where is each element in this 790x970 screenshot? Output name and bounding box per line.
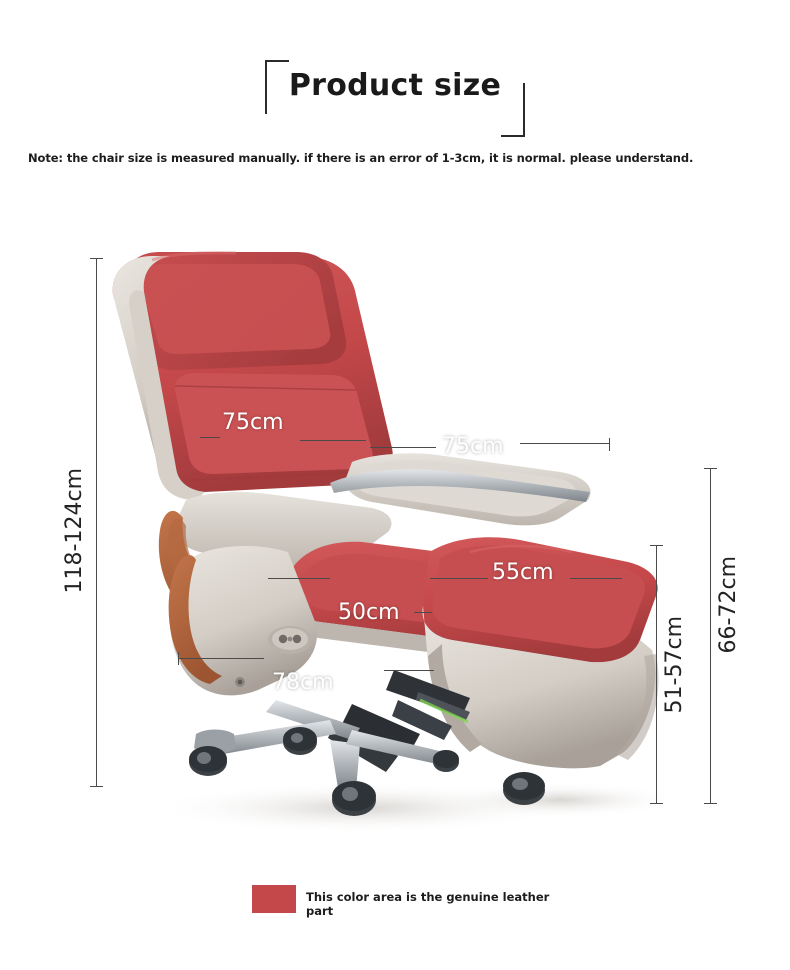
product-size-page: Product size Note: the chair size is mea…: [0, 0, 790, 970]
dimension-cap-top: [90, 258, 103, 259]
dimension-total-depth-range: 66-72cm: [716, 556, 741, 653]
dimension-line-seat-width-2: [414, 612, 432, 613]
legend: This color area is the genuine leather p…: [252, 885, 552, 913]
dimension-line-backrest-width-2: [300, 440, 366, 441]
dimension-line-base-width-2: [384, 670, 434, 671]
dimension-line-footrest: [430, 578, 488, 579]
legend-color-swatch: [252, 885, 296, 913]
dimension-footrest-width: 55cm: [492, 560, 554, 585]
dimension-base-width: 78cm: [272, 670, 334, 695]
dimension-line-seat-depth-top: [370, 447, 436, 448]
page-title: Product size: [255, 55, 535, 117]
legend-label: This color area is the genuine leather p…: [306, 890, 552, 918]
dimension-seat-height-range: 51-57cm: [662, 616, 687, 713]
dimension-cap-depth-right: [609, 438, 610, 451]
dimension-cap-seat-height-bottom: [650, 803, 663, 804]
chair-drawing: [0, 200, 790, 860]
chair-illustration: 118-124cm 75cm 75cm 55cm 50cm 78cm 51-57…: [0, 200, 790, 860]
dimension-overall-height: 118-124cm: [62, 468, 87, 593]
dimension-line-seat-width: [268, 578, 330, 579]
dimension-seat-depth-top: 75cm: [442, 434, 504, 459]
dimension-line-seat-depth-top-2: [520, 443, 610, 444]
dimension-cap-seat-height-top: [650, 545, 663, 546]
dimension-cap-bottom: [90, 786, 103, 787]
dimension-seat-width: 50cm: [338, 600, 400, 625]
page-title-block: Product size: [255, 55, 535, 117]
dimension-cap-total-depth-bottom: [704, 803, 717, 804]
dimension-line-backrest-width: [200, 437, 220, 438]
dimension-cap-base-left: [178, 652, 179, 665]
dimension-backrest-width: 75cm: [222, 410, 284, 435]
dimension-line-overall-height: [96, 258, 97, 786]
measurement-note: Note: the chair size is measured manuall…: [28, 151, 768, 165]
dimension-line-base-width: [178, 658, 264, 659]
dimension-line-total-depth: [710, 468, 711, 803]
dimension-cap-total-depth-top: [704, 468, 717, 469]
dimension-line-footrest-2: [570, 578, 622, 579]
dimension-line-seat-height: [656, 545, 657, 803]
